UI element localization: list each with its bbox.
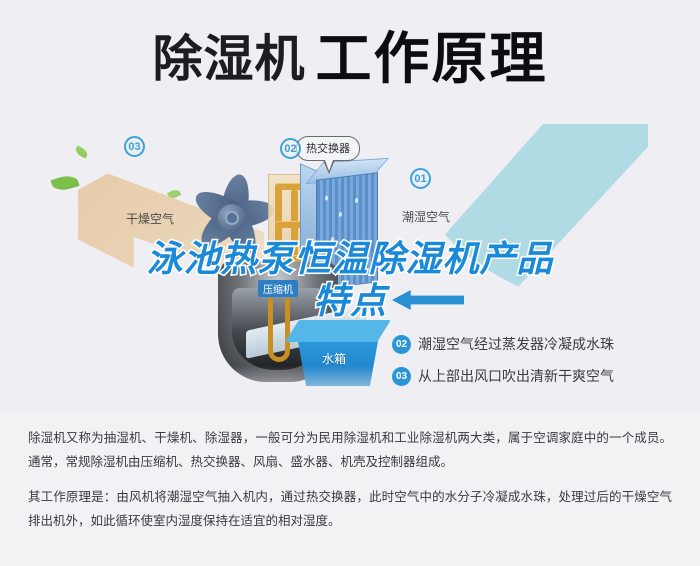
step-description: 潮湿空气经过蒸发器冷凝成水珠 bbox=[418, 334, 614, 354]
step-description: 从上部出风口吹出清新干爽空气 bbox=[418, 366, 614, 386]
page-title-bar: 除湿机 工作原理 bbox=[0, 0, 700, 118]
diagram-badge-02: 02 bbox=[280, 138, 301, 159]
diagram-badge-03: 03 bbox=[124, 136, 145, 157]
heat-exchanger-callout: 热交换器 bbox=[296, 136, 360, 161]
step-number: 02 bbox=[392, 335, 411, 354]
water-droplet-icon bbox=[325, 195, 328, 200]
fan-hub-center bbox=[225, 211, 239, 225]
dry-air-label: 干燥空气 bbox=[126, 210, 174, 227]
page-title-primary: 除湿机 bbox=[153, 34, 306, 84]
compressor-label: 压缩机 bbox=[258, 280, 298, 297]
fan-illustration bbox=[178, 164, 282, 264]
diagram-badge-01: 01 bbox=[410, 168, 431, 189]
description-paragraph-2: 其工作原理是：由风机将潮湿空气抽入机内，通过热交换器，此时空气中的水分子冷凝成水… bbox=[28, 485, 672, 534]
water-droplet-icon bbox=[331, 237, 334, 242]
copper-u-pipe bbox=[268, 298, 290, 362]
water-droplet-icon bbox=[345, 261, 348, 266]
humid-air-label: 潮湿空气 bbox=[402, 208, 450, 225]
step-number: 03 bbox=[392, 367, 411, 386]
page-title-secondary: 工作原理 bbox=[316, 31, 548, 87]
water-droplet-icon bbox=[339, 212, 342, 217]
list-item: 02 潮湿空气经过蒸发器冷凝成水珠 bbox=[392, 328, 682, 360]
water-tank-top bbox=[285, 320, 391, 342]
list-item: 03 从上部出风口吹出清新干爽空气 bbox=[392, 360, 682, 392]
water-tank-label: 水箱 bbox=[322, 350, 346, 367]
water-droplet-icon bbox=[355, 198, 358, 203]
process-step-list: 01 潮湿空气由风机抽入机内 02 潮湿空气经过蒸发器冷凝成水珠 03 从上部出… bbox=[392, 296, 682, 392]
leaf-icon bbox=[50, 172, 79, 193]
water-droplet-icon bbox=[361, 241, 364, 246]
description-block: 除湿机又称为抽湿机、干燥机、除湿器，一般可分为民用除湿机和工业除湿机两大类，属于… bbox=[0, 412, 700, 566]
leaf-icon bbox=[74, 146, 89, 159]
description-paragraph-1: 除湿机又称为抽湿机、干燥机、除湿器，一般可分为民用除湿机和工业除湿机两大类，属于… bbox=[28, 426, 672, 475]
